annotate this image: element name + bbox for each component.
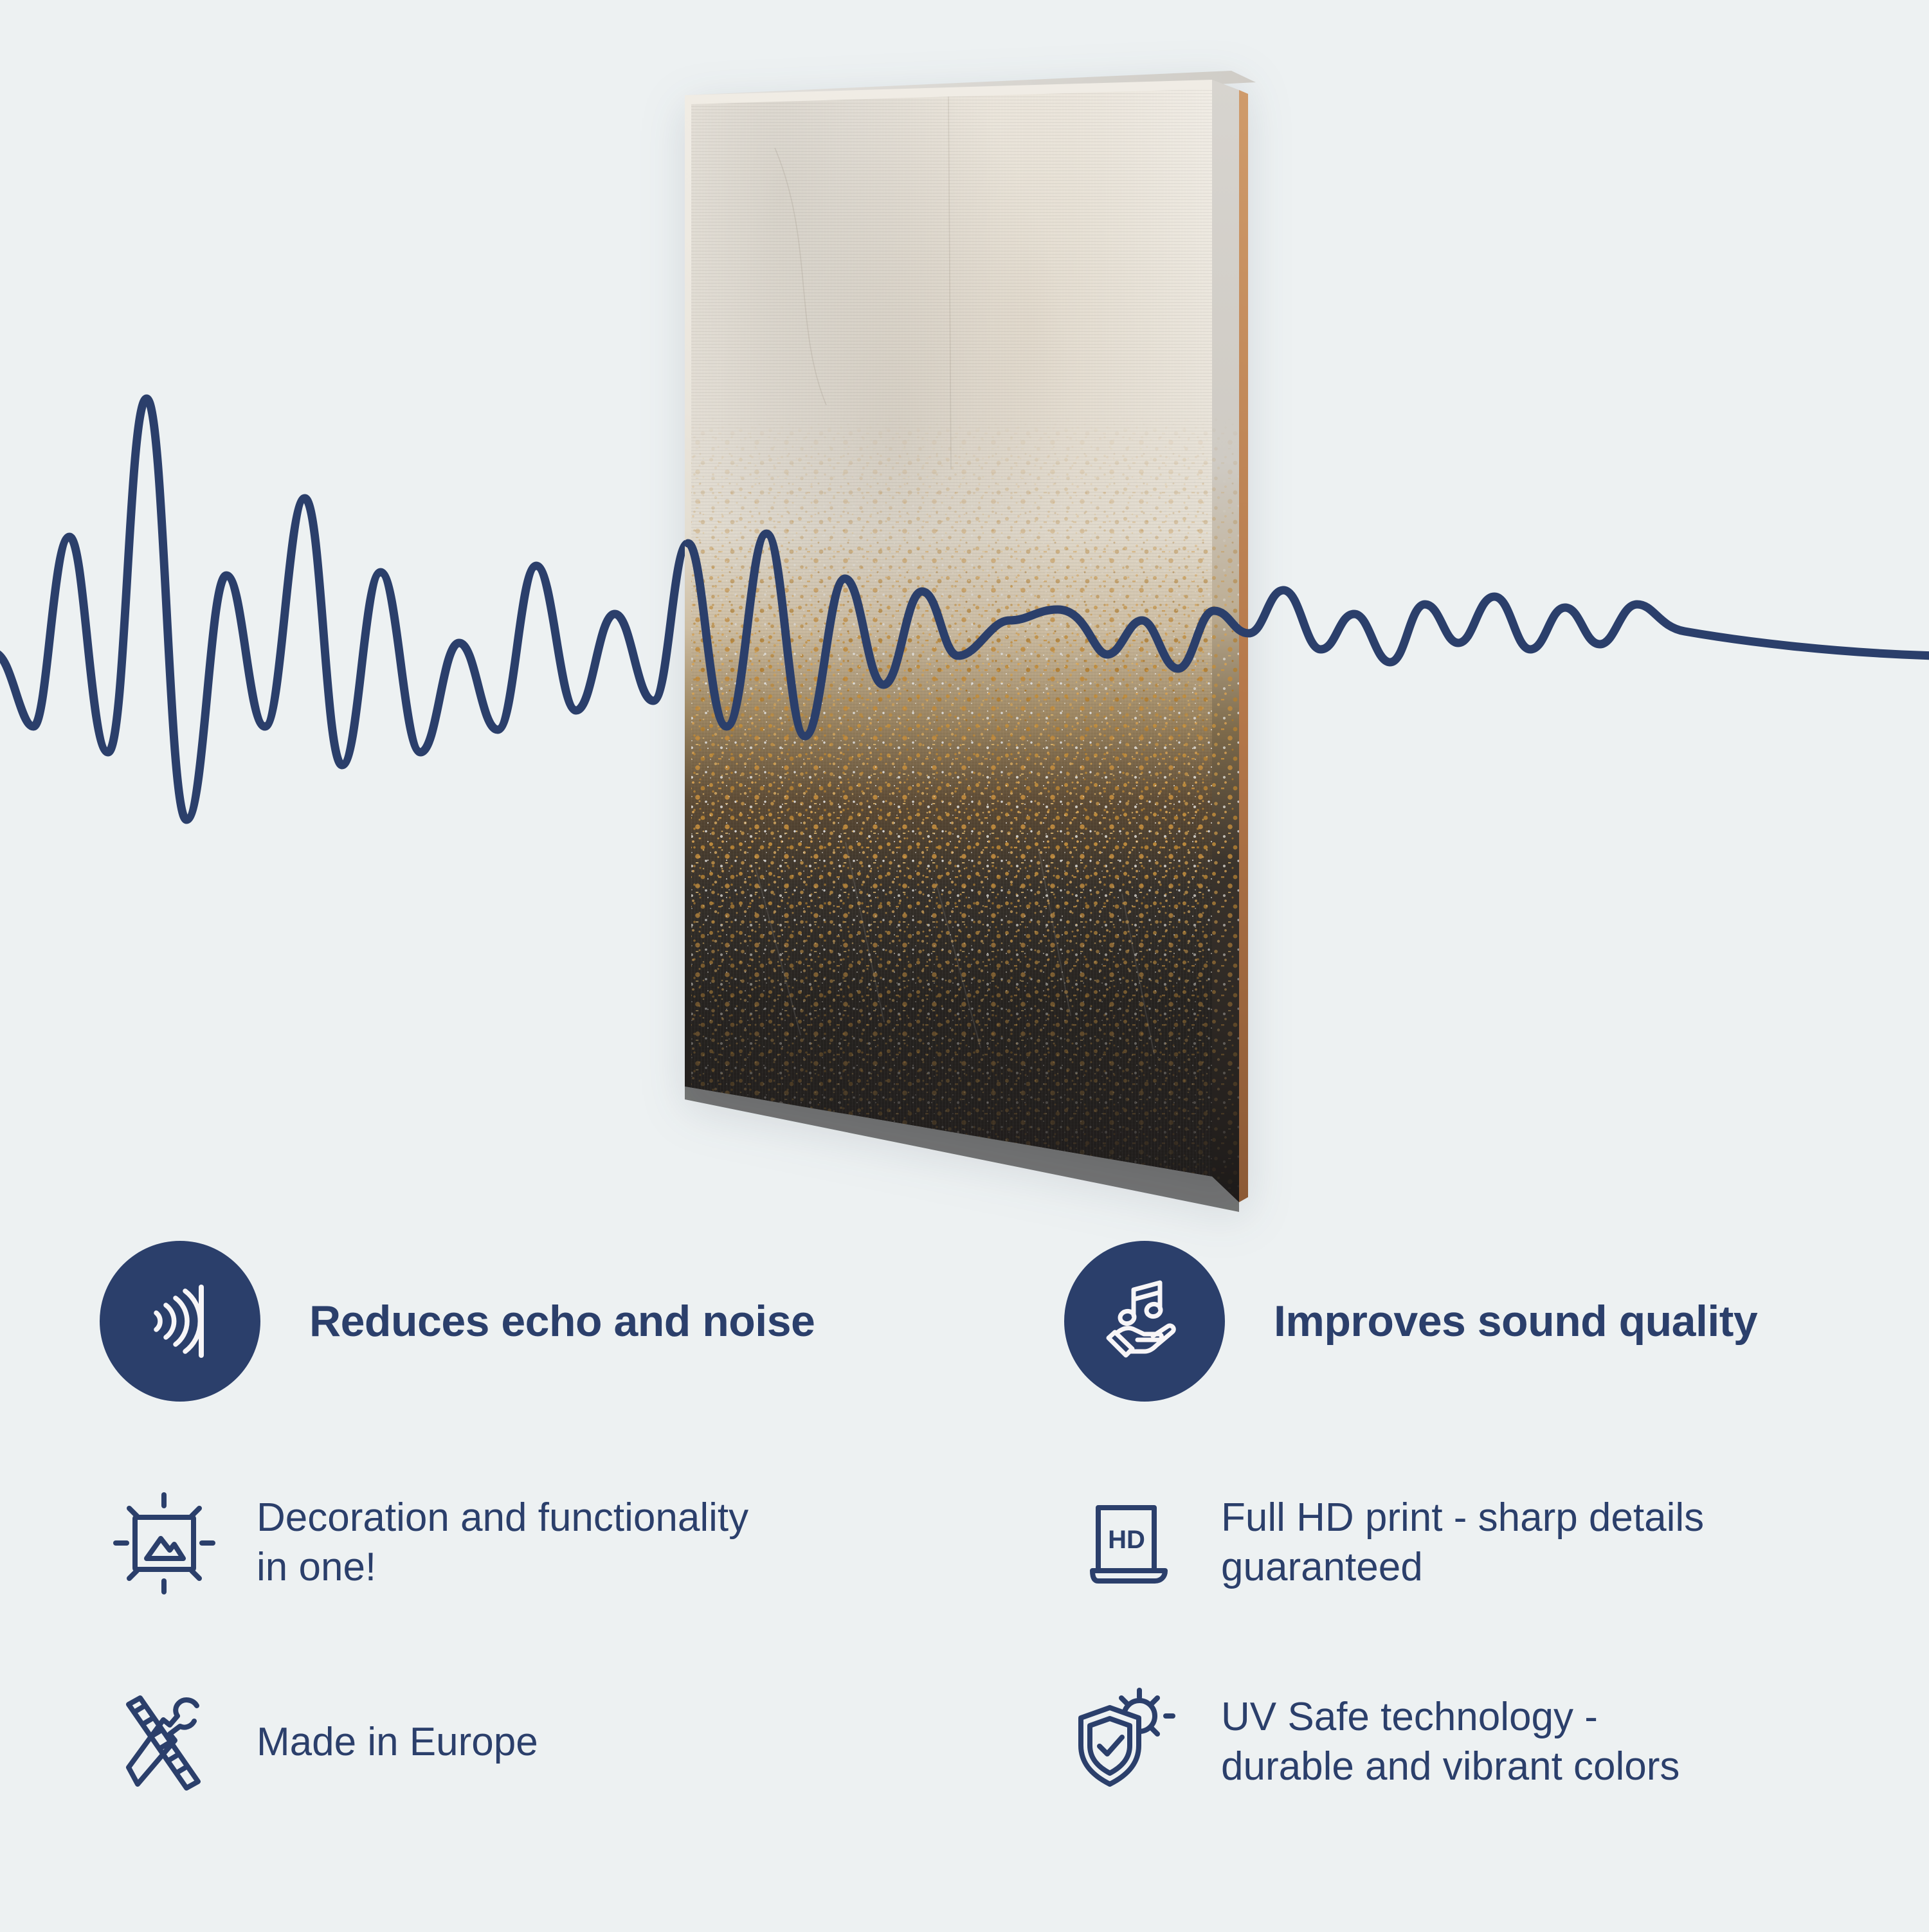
canvas-right-side-speckle (1212, 80, 1239, 1202)
feature-list: Reduces echo and noise Improves sound (0, 1241, 1929, 1929)
canvas-stretcher-edge (1239, 90, 1248, 1202)
feature-label-line2: durable and vibrant colors (1221, 1742, 1680, 1792)
infographic-stage: Reduces echo and noise Improves sound (0, 0, 1929, 1929)
feature-label-line2: in one! (257, 1543, 748, 1593)
feature-label: Decoration and functionality in one! (257, 1494, 748, 1593)
feature-label: Improves sound quality (1274, 1297, 1757, 1346)
feature-label-line1: Made in Europe (257, 1718, 538, 1767)
feature-label: Made in Europe (257, 1718, 538, 1767)
canvas-print-artwork (678, 71, 1257, 1215)
framed-picture-shine-icon (100, 1479, 228, 1607)
waveform-path-right-tail (1283, 590, 1929, 662)
sound-wave-absorption-icon (100, 1241, 260, 1402)
feature-secondary-full-hd[interactable]: HD Full HD print - sharp details guarant… (1064, 1479, 1704, 1607)
canvas-front-face (685, 80, 1212, 1177)
feature-primary-improves-sound[interactable]: Improves sound quality (1064, 1241, 1757, 1402)
feature-label-line2: guaranteed (1221, 1543, 1704, 1593)
hd-screen-icon: HD (1064, 1479, 1193, 1607)
shield-check-sun-icon (1064, 1678, 1193, 1807)
feature-secondary-uv-safe[interactable]: UV Safe technology - durable and vibrant… (1064, 1678, 1680, 1807)
feature-label-line1: UV Safe technology - (1221, 1693, 1680, 1742)
feature-label-line1: Full HD print - sharp details (1221, 1494, 1704, 1543)
feature-label: Reduces echo and noise (309, 1297, 815, 1346)
feature-label: Full HD print - sharp details guaranteed (1221, 1494, 1704, 1593)
feature-label-line1: Decoration and functionality (257, 1494, 748, 1543)
hd-badge-text: HD (1108, 1526, 1145, 1554)
feature-label: UV Safe technology - durable and vibrant… (1221, 1693, 1680, 1792)
waveform-path-left (0, 399, 688, 820)
ruler-hammer-icon (100, 1678, 228, 1807)
feature-secondary-made-in-europe[interactable]: Made in Europe (100, 1678, 538, 1807)
feature-primary-reduces-echo[interactable]: Reduces echo and noise (100, 1241, 815, 1402)
feature-secondary-decoration[interactable]: Decoration and functionality in one! (100, 1479, 748, 1607)
music-note-in-hand-icon (1064, 1241, 1225, 1402)
